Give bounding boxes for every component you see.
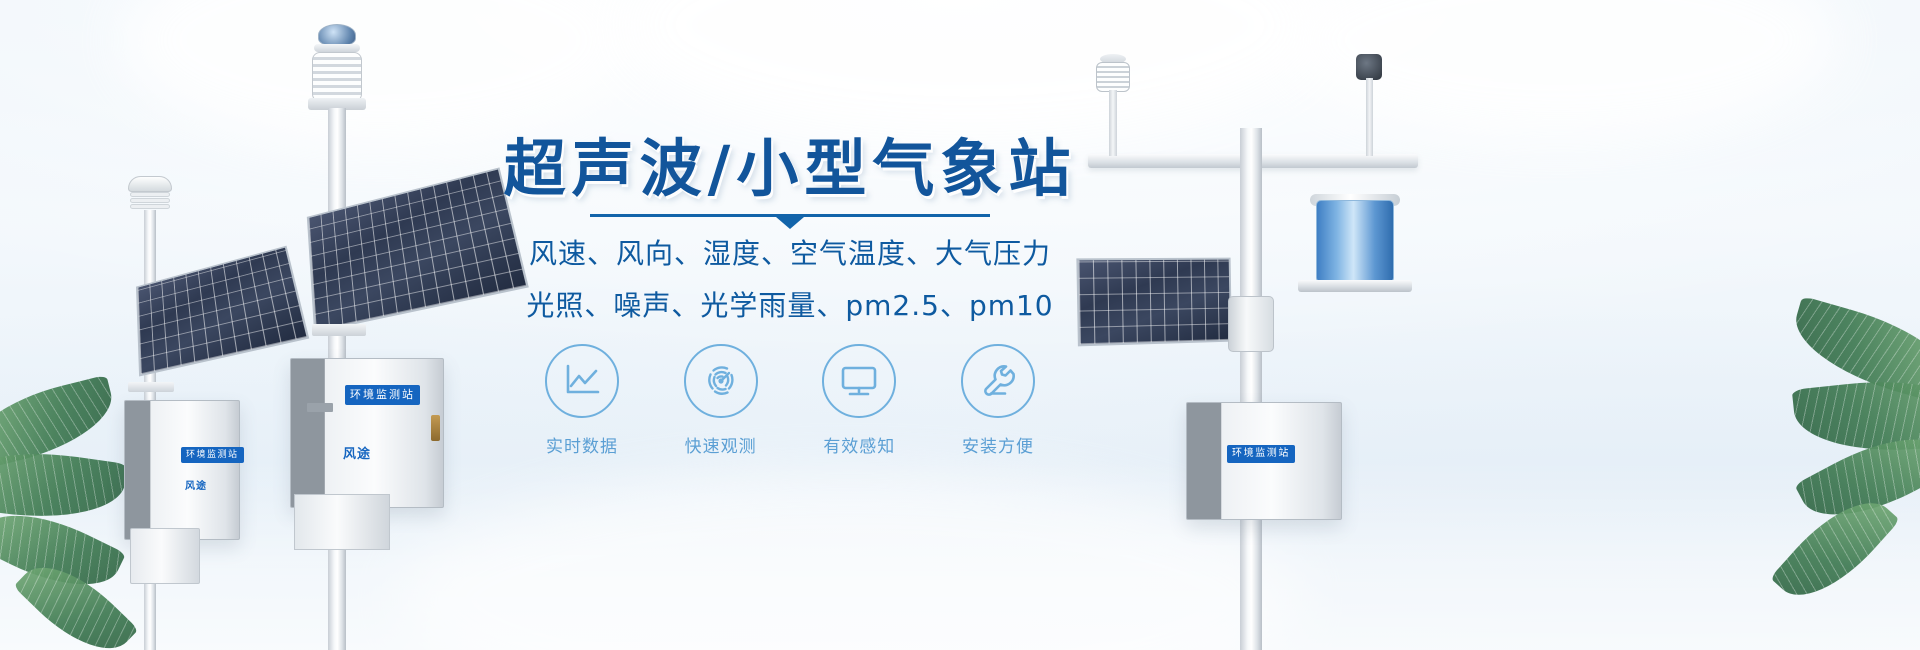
cabinet-door-handle — [431, 415, 440, 441]
banner-subtitle-line-2: 光照、噪声、光学雨量、pm2.5、pm10 — [440, 284, 1140, 324]
equipment-cabinet: 环境监测站 — [1186, 402, 1342, 520]
mast-hub — [1228, 296, 1274, 352]
feature-icon-circle — [822, 344, 896, 418]
feature-icon-circle — [545, 344, 619, 418]
cabinet-base — [130, 528, 200, 584]
wind-sensor — [1356, 54, 1382, 80]
cabinet-label: 环境监测站 — [181, 447, 244, 463]
cabinet-brand-logo: 风途 — [343, 443, 371, 462]
cabinet-label: 环境监测站 — [1227, 445, 1295, 463]
cabinet-base — [294, 494, 390, 550]
banner-copy: 超声波/小型气象站 风速、风向、湿度、空气温度、大气压力 光照、噪声、光学雨量、… — [440, 0, 1140, 650]
rain-gauge-shelf — [1298, 280, 1412, 292]
cabinet-vent — [307, 403, 333, 412]
sensor-dome — [318, 24, 356, 46]
mounting-arm — [312, 324, 366, 336]
feature-label: 安装方便 — [952, 432, 1044, 457]
mast-pole — [1240, 128, 1262, 650]
radiation-shield — [312, 52, 362, 102]
shield-ring — [130, 198, 170, 203]
feature-list: 实时数据 — [440, 344, 1140, 457]
banner-title: 超声波/小型气象站 — [440, 118, 1140, 208]
equipment-cabinet: 环境监测站 风途 — [124, 400, 240, 540]
wrench-icon — [978, 361, 1018, 401]
shield-ring — [130, 192, 170, 197]
sensor-stem — [1366, 78, 1373, 156]
cabinet-brand-logo: 风途 — [185, 477, 207, 492]
cabinet-label: 环境监测站 — [345, 385, 420, 405]
rain-gauge — [1316, 200, 1394, 282]
feature-label: 有效感知 — [813, 432, 905, 457]
feature-item-easy-install[interactable]: 安装方便 — [952, 344, 1044, 457]
radiation-shield — [128, 176, 172, 192]
equipment-cabinet: 环境监测站 风途 — [290, 358, 444, 508]
line-chart-icon — [562, 362, 602, 400]
title-divider — [590, 214, 990, 217]
feature-item-fast-observation[interactable]: 快速观测 — [675, 344, 767, 457]
sensor-cap — [314, 44, 360, 52]
feature-item-effective-sensing[interactable]: 有效感知 — [813, 344, 905, 457]
feature-icon-circle — [961, 344, 1035, 418]
feature-label: 快速观测 — [675, 432, 767, 457]
feature-item-realtime-data[interactable]: 实时数据 — [536, 344, 628, 457]
shield-ring — [130, 204, 170, 209]
mounting-arm — [128, 382, 174, 392]
banner-subtitle-line-1: 风速、风向、湿度、空气温度、大气压力 — [440, 232, 1140, 272]
feature-label: 实时数据 — [536, 432, 628, 457]
feature-icon-circle — [684, 344, 758, 418]
monitor-icon — [839, 364, 879, 398]
product-banner: 环境监测站 风途 环境监测站 风途 — [0, 0, 1920, 650]
radar-gauge-icon — [701, 361, 741, 401]
